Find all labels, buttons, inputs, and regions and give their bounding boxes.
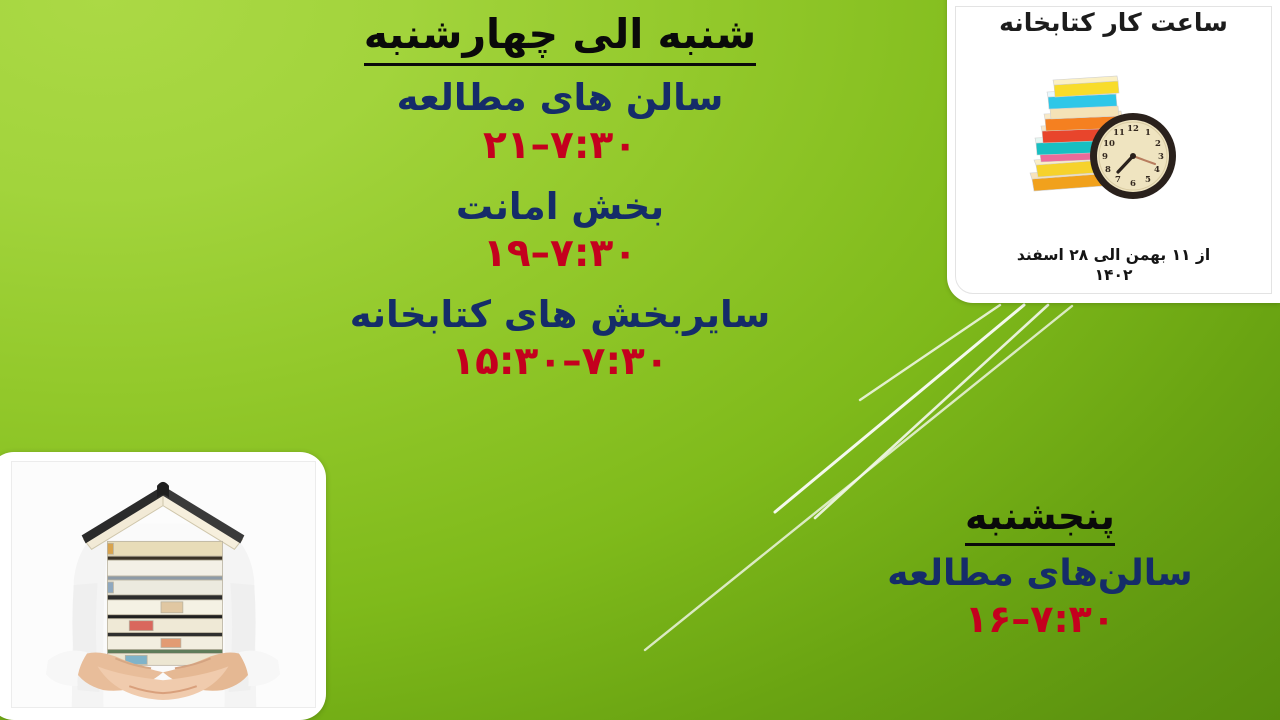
svg-text:5: 5	[1145, 175, 1151, 185]
main-day-heading: شنبه الی چهارشنبه	[300, 8, 820, 60]
department-label-other-sections: سایربخش های کتابخانه	[300, 291, 820, 339]
slide-canvas: ساعت کار کتابخانه	[0, 0, 1280, 720]
svg-text:11: 11	[1113, 128, 1125, 138]
svg-text:2: 2	[1155, 139, 1161, 149]
department-hours-study-halls: ۲۱–۷:۳۰	[300, 123, 820, 169]
books-and-clock-icon: 12 1 2 3 4 5 6 7 8 9 10 11	[1014, 48, 1214, 208]
svg-text:12: 12	[1127, 124, 1139, 134]
svg-text:1: 1	[1145, 128, 1151, 138]
department-label-study-halls: سالن های مطالعه	[300, 74, 820, 122]
svg-text:6: 6	[1130, 179, 1136, 189]
thursday-schedule-block: پنجشنبه سالن‌های مطالعه ۱۶–۷:۳۰	[840, 492, 1240, 642]
thursday-department-hours-study-halls: ۱۶–۷:۳۰	[840, 597, 1240, 642]
hands-holding-book-house-icon	[12, 462, 315, 707]
svg-text:4: 4	[1154, 165, 1160, 175]
card-date-line-2: ۱۴۰۲	[947, 266, 1280, 285]
thursday-day-heading: پنجشنبه	[840, 492, 1240, 541]
svg-text:3: 3	[1158, 152, 1164, 162]
main-day-heading-text: شنبه الی چهارشنبه	[364, 10, 756, 66]
svg-text:9: 9	[1102, 152, 1108, 162]
books-photo-card	[0, 452, 326, 720]
main-schedule-block: شنبه الی چهارشنبه سالن های مطالعه ۲۱–۷:۳…	[300, 8, 820, 385]
photo-frame	[11, 461, 316, 708]
thursday-department-label-study-halls: سالن‌های مطالعه	[840, 551, 1240, 598]
svg-text:8: 8	[1105, 165, 1111, 175]
library-hours-card: ساعت کار کتابخانه	[947, 0, 1280, 303]
department-hours-circulation: ۱۹–۷:۳۰	[300, 231, 820, 277]
card-date-range: از ۱۱ بهمن الی ۲۸ اسفند ۱۴۰۲	[947, 246, 1280, 285]
svg-text:7: 7	[1115, 175, 1121, 185]
card-title: ساعت کار کتابخانه	[947, 8, 1280, 37]
thursday-day-heading-text: پنجشنبه	[965, 494, 1115, 546]
card-date-line-1: از ۱۱ بهمن الی ۲۸ اسفند	[947, 246, 1280, 265]
svg-text:10: 10	[1103, 139, 1115, 149]
department-label-circulation: بخش امانت	[300, 183, 820, 231]
department-hours-other-sections: ۱۵:۳۰–۷:۳۰	[300, 339, 820, 385]
